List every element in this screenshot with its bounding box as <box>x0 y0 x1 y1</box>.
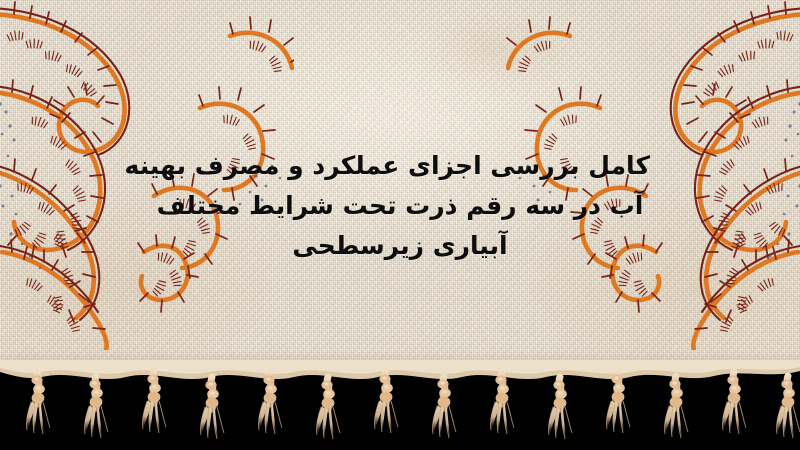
title-slide: کامل بررسی اجزای عملکرد و مصرف بهینه آب … <box>0 0 800 450</box>
title-line-3: آبیاری زیرسطحی <box>150 226 650 266</box>
title-line-1: کامل بررسی اجزای عملکرد و مصرف بهینه <box>150 146 650 186</box>
tassel-fringe-icon <box>0 360 800 450</box>
slide-title: کامل بررسی اجزای عملکرد و مصرف بهینه آب … <box>0 146 800 266</box>
title-line-2: آب در سه رقم ذرت تحت شرایط مختلف <box>150 186 650 226</box>
